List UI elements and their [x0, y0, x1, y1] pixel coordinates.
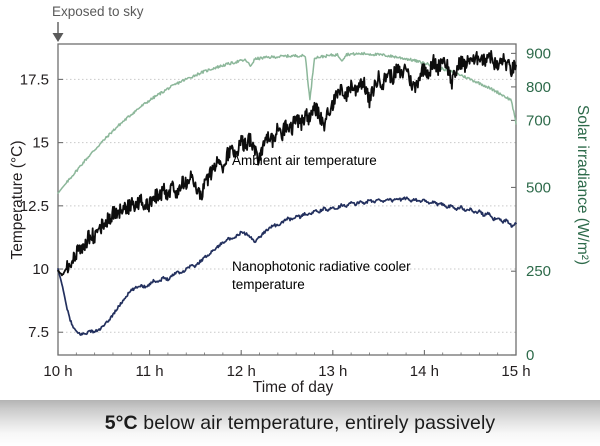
- y-right-tick-label: 900: [526, 45, 551, 62]
- y-right-tick-label: 500: [526, 179, 551, 196]
- y-right-tick-label: 250: [526, 263, 551, 280]
- x-axis-title: Time of day: [253, 379, 334, 396]
- y-left-tick-label: 10: [32, 261, 49, 278]
- ambient-series-label: Ambient air temperature: [232, 153, 377, 168]
- x-tick-label: 15 h: [501, 363, 530, 380]
- data-series: [58, 51, 516, 335]
- cooler-series-label-line2: temperature: [232, 277, 305, 292]
- exposed-to-sky-label: Exposed to sky: [52, 4, 144, 19]
- solar-temperature-chart: 10 h11 h12 h13 h14 h15 h 7.51012.51517.5…: [0, 0, 600, 400]
- x-tick-label: 14 h: [410, 363, 439, 380]
- y-left-tick-label: 7.5: [28, 324, 49, 341]
- y-left-tick-label: 17.5: [20, 71, 49, 88]
- y-axis-right-title: Solar irradiance (W/m²): [574, 105, 591, 265]
- caption-highlight: 5°C: [105, 412, 138, 434]
- y-right-tick-label: 700: [526, 112, 551, 129]
- x-tick-label: 10 h: [43, 363, 72, 380]
- x-tick-label: 11 h: [136, 363, 164, 380]
- y-axis-left-ticks: 7.51012.51517.5: [20, 71, 63, 341]
- plot-frame: [58, 44, 516, 355]
- y-right-tick-label: 0: [526, 347, 534, 364]
- x-tick-label: 13 h: [318, 363, 347, 380]
- caption-text: 5°C below air temperature, entirely pass…: [105, 412, 496, 435]
- y-axis-right-ticks: 0250500700800900: [511, 45, 551, 364]
- down-arrow-icon: [53, 22, 64, 42]
- caption-banner: 5°C below air temperature, entirely pass…: [0, 400, 600, 446]
- y-right-tick-label: 800: [526, 79, 551, 96]
- figure-panel: 10 h11 h12 h13 h14 h15 h 7.51012.51517.5…: [0, 0, 600, 400]
- x-tick-label: 12 h: [227, 363, 256, 380]
- caption-rest: below air temperature, entirely passivel…: [138, 412, 496, 434]
- y-left-tick-label: 15: [32, 135, 49, 152]
- y-axis-left-title: Temperature (°C): [9, 140, 26, 259]
- cooler-series-label-line1: Nanophotonic radiative cooler: [232, 259, 411, 274]
